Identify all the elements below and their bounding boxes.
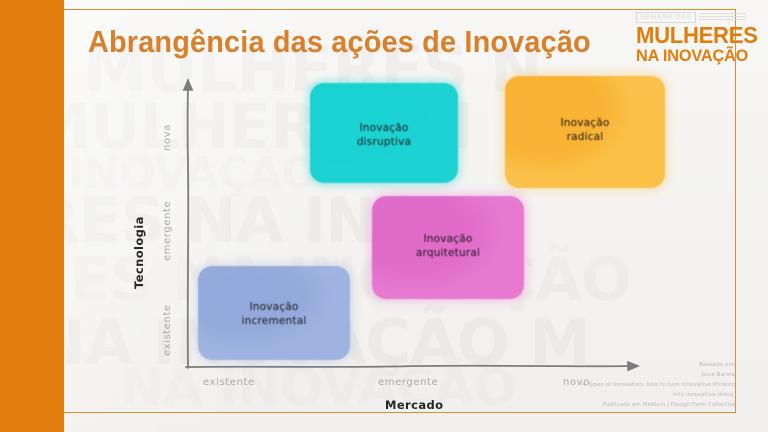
credits-line: Josie Barlow (580, 370, 736, 380)
logo-title-line2: NA INOVAÇÃO (636, 47, 742, 64)
slide-canvas: ÃO MULHERES N AO MULHERES N A INOVAÇÃO H… (0, 0, 768, 432)
credits-line: Baseado em: (580, 360, 736, 370)
left-accent-bar (0, 0, 64, 432)
logo-stripes-icon (699, 13, 746, 22)
credits-line: "4 Types of Innovation: how to turn inno… (580, 380, 736, 390)
credits-block: Baseado em: Josie Barlow "4 Types of Inn… (580, 360, 736, 410)
credits-line: Publicado em Medium | Design Farm Collec… (580, 400, 736, 410)
logo-title-line1: MULHERES (636, 25, 742, 47)
event-logo: SEMANA DAS MULHERES NA INOVAÇÃO (636, 12, 746, 64)
page-title: Abrangência das ações de Inovação (88, 24, 591, 60)
credits-line: into innovative doing" (580, 390, 736, 400)
